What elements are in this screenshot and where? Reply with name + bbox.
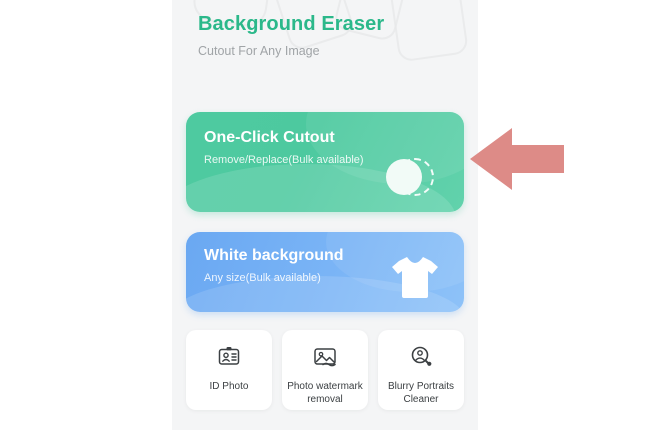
page-title: Background Eraser bbox=[198, 10, 384, 38]
feature-card-subtitle: Remove/Replace(Bulk available) bbox=[204, 152, 364, 168]
tool-tile-label: Blurry Portraits Cleaner bbox=[378, 380, 464, 406]
feature-card-subtitle: Any size(Bulk available) bbox=[204, 270, 321, 286]
id-card-icon bbox=[215, 343, 243, 371]
portrait-magnifier-icon bbox=[407, 343, 435, 371]
image-watermark-icon bbox=[311, 343, 339, 371]
cutout-circle-icon bbox=[386, 154, 438, 202]
background-decor-shape bbox=[389, 0, 469, 63]
tool-tile-label: Photo watermark removal bbox=[282, 380, 368, 406]
tool-tile-photo-watermark-removal[interactable]: Photo watermark removal bbox=[282, 330, 368, 410]
tool-tile-id-photo[interactable]: ID Photo bbox=[186, 330, 272, 410]
tool-tile-label: ID Photo bbox=[207, 380, 252, 393]
tool-tile-blurry-portraits-cleaner[interactable]: Blurry Portraits Cleaner bbox=[378, 330, 464, 410]
solid-circle-shape bbox=[386, 159, 422, 195]
app-header: Background Eraser Cutout For Any Image bbox=[198, 10, 384, 62]
tshirt-icon bbox=[388, 252, 442, 302]
annotation-arrow-left-icon bbox=[468, 124, 566, 194]
tool-row: ID Photo Photo watermark removal Blurry … bbox=[186, 330, 464, 410]
card-highlight bbox=[306, 112, 464, 184]
feature-card-title: One-Click Cutout bbox=[204, 128, 335, 148]
phone-screen: Background Eraser Cutout For Any Image O… bbox=[172, 0, 478, 430]
feature-card-white-background[interactable]: White background Any size(Bulk available… bbox=[186, 232, 464, 312]
feature-card-one-click-cutout[interactable]: One-Click Cutout Remove/Replace(Bulk ava… bbox=[186, 112, 464, 212]
page-subtitle: Cutout For Any Image bbox=[198, 40, 384, 62]
feature-card-title: White background bbox=[204, 246, 344, 266]
